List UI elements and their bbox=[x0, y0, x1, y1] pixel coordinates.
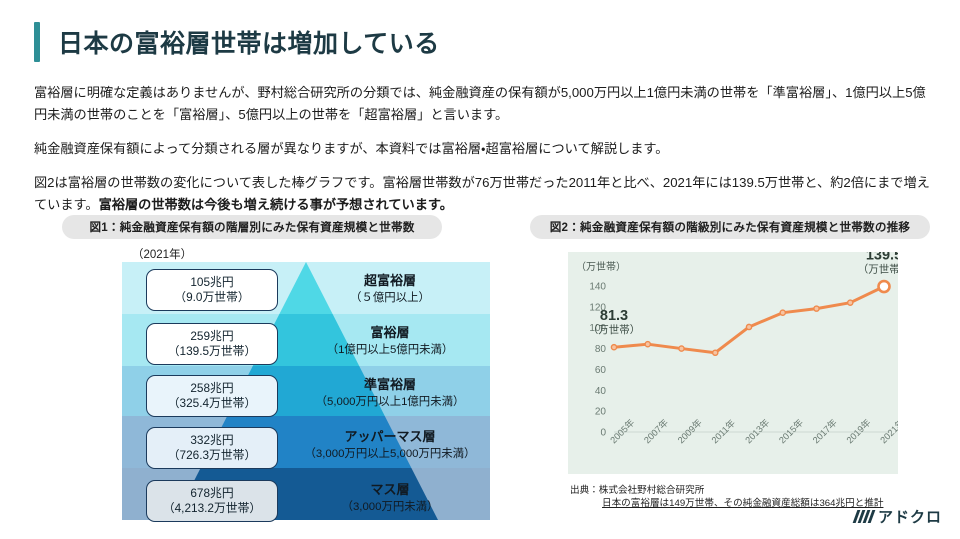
source-line-2: 日本の富裕層は149万世帯、その純金融資産総額は364兆円と推計 bbox=[602, 497, 883, 510]
chart-canvas: 0204060801001201402005年2007年2009年2011年20… bbox=[568, 252, 898, 474]
tier-2-amount: 259兆円 bbox=[190, 329, 233, 344]
x-axis-tick: 2005年 bbox=[608, 417, 637, 446]
data-point-marker bbox=[713, 350, 718, 355]
tier-5-range: （3,000万円未満） bbox=[290, 499, 490, 516]
pyramid-value-box-4: 332兆円 （726.3万世帯） bbox=[146, 427, 278, 469]
pyramid-value-boxes: 105兆円 （9.0万世帯） 259兆円 （139.5万世帯） 258兆円 （3… bbox=[146, 262, 278, 520]
tier-label-1: 超富裕層 （５億円以上） bbox=[290, 272, 490, 307]
tier-3-range: （5,000万円以上1億円未満） bbox=[290, 394, 490, 411]
tier-5-amount: 678兆円 bbox=[190, 486, 233, 501]
tier-3-households: （325.4万世帯） bbox=[168, 396, 257, 411]
slide-root: 日本の富裕層世帯は増加している 富裕層に明確な定義はありませんが、野村総合研究所… bbox=[0, 0, 960, 539]
data-point-marker bbox=[814, 306, 819, 311]
tier-1-range: （５億円以上） bbox=[290, 290, 490, 307]
x-axis-tick: 2013年 bbox=[743, 417, 772, 446]
body-copy: 富裕層に明確な定義はありませんが、野村総合研究所の分類では、純金融資産の保有額が… bbox=[34, 82, 932, 216]
tier-label-5: マス層 （3,000万円未満） bbox=[290, 481, 490, 516]
tier-3-amount: 258兆円 bbox=[190, 381, 233, 396]
tier-4-amount: 332兆円 bbox=[190, 433, 233, 448]
tier-4-households: （726.3万世帯） bbox=[168, 448, 257, 463]
source-line-1: 出典：株式会社野村総合研究所 bbox=[570, 484, 883, 497]
y-axis-tick: 140 bbox=[589, 282, 606, 293]
title-accent-bar bbox=[34, 22, 40, 62]
pyramid-value-box-3: 258兆円 （325.4万世帯） bbox=[146, 375, 278, 417]
y-axis-tick: 60 bbox=[595, 365, 607, 376]
data-point-marker bbox=[611, 345, 616, 350]
line-chart: （万世帯） 0204060801001201402005年2007年2009年2… bbox=[568, 252, 898, 474]
pyramid-value-box-5: 678兆円 （4,213.2万世帯） bbox=[146, 480, 278, 522]
figure1-header: 図1：純金融資産保有額の階層別にみた保有資産規模と世帯数 bbox=[62, 215, 442, 239]
paragraph-1: 富裕層に明確な定義はありませんが、野村総合研究所の分類では、純金融資産の保有額が… bbox=[34, 82, 932, 126]
pyramid-year-label: （2021年） bbox=[132, 246, 192, 262]
tier-2-households: （139.5万世帯） bbox=[168, 344, 257, 359]
slashes-icon bbox=[855, 510, 873, 523]
figure2-header: 図2：純金融資産保有額の階級別にみた保有資産規模と世帯数の推移 bbox=[530, 215, 930, 239]
title-text: 日本の富裕層世帯は増加している bbox=[58, 24, 440, 60]
data-point-marker bbox=[679, 346, 684, 351]
paragraph-3-emphasis: 富裕層の世帯数は今後も増え続ける事が予想されています。 bbox=[99, 197, 453, 212]
y-axis-tick: 80 bbox=[595, 344, 607, 355]
data-point-marker bbox=[879, 281, 890, 292]
tier-4-range: （3,000万円以上5,000万円未満） bbox=[290, 446, 490, 463]
tier-5-name: マス層 bbox=[290, 481, 490, 499]
pyramid-value-box-2: 259兆円 （139.5万世帯） bbox=[146, 323, 278, 365]
source-note: 出典：株式会社野村総合研究所 日本の富裕層は149万世帯、その純金融資産総額は3… bbox=[570, 484, 883, 510]
data-label-value: 139.5 bbox=[866, 252, 898, 264]
tier-1-amount: 105兆円 bbox=[190, 275, 233, 290]
tier-2-range: （1億円以上5億円未満） bbox=[290, 342, 490, 359]
data-label-unit: （万世帯） bbox=[858, 263, 898, 276]
x-axis-tick: 2017年 bbox=[810, 417, 839, 446]
x-axis-tick: 2007年 bbox=[641, 417, 670, 446]
tier-1-name: 超富裕層 bbox=[290, 272, 490, 290]
tier-3-name: 準富裕層 bbox=[290, 376, 490, 394]
pyramid-tier-labels: 超富裕層 （５億円以上） 富裕層 （1億円以上5億円未満） 準富裕層 （5,00… bbox=[290, 262, 490, 520]
pyramid-value-box-1: 105兆円 （9.0万世帯） bbox=[146, 269, 278, 311]
data-point-marker bbox=[645, 342, 650, 347]
tier-1-households: （9.0万世帯） bbox=[174, 290, 249, 305]
x-axis-tick: 2011年 bbox=[709, 417, 737, 445]
page-title: 日本の富裕層世帯は増加している bbox=[34, 22, 440, 62]
data-label-value: 81.3 bbox=[600, 308, 628, 324]
paragraph-2: 純金融資産保有額によって分類される層が異なりますが、本資料では富裕層・超富裕層に… bbox=[34, 138, 932, 160]
pyramid-figure: （2021年） bbox=[122, 248, 490, 520]
tier-label-3: 準富裕層 （5,000万円以上1億円未満） bbox=[290, 376, 490, 411]
y-axis-tick: 0 bbox=[600, 428, 606, 439]
y-axis-tick: 40 bbox=[595, 386, 607, 397]
tier-label-2: 富裕層 （1億円以上5億円未満） bbox=[290, 324, 490, 359]
tier-2-name: 富裕層 bbox=[290, 324, 490, 342]
data-point-marker bbox=[848, 300, 853, 305]
tier-5-households: （4,213.2万世帯） bbox=[163, 501, 261, 516]
tier-label-4: アッパーマス層 （3,000万円以上5,000万円未満） bbox=[290, 428, 490, 463]
logo-text: アドクロ bbox=[878, 506, 942, 527]
brand-logo: アドクロ bbox=[855, 506, 942, 527]
data-point-marker bbox=[780, 310, 785, 315]
data-point-marker bbox=[746, 324, 751, 329]
paragraph-3: 図2は富裕層の世帯数の変化について表した棒グラフです。富裕層世帯数が76万世帯だ… bbox=[34, 172, 932, 216]
x-axis-tick: 2019年 bbox=[844, 417, 873, 446]
x-axis-tick: 2015年 bbox=[776, 417, 805, 446]
series-line bbox=[614, 287, 884, 353]
data-label-unit: （万世帯） bbox=[588, 323, 641, 336]
y-axis-tick: 20 bbox=[595, 407, 607, 418]
x-axis-tick: 2021年 bbox=[878, 417, 898, 446]
x-axis-tick: 2009年 bbox=[675, 417, 704, 446]
tier-4-name: アッパーマス層 bbox=[290, 428, 490, 446]
